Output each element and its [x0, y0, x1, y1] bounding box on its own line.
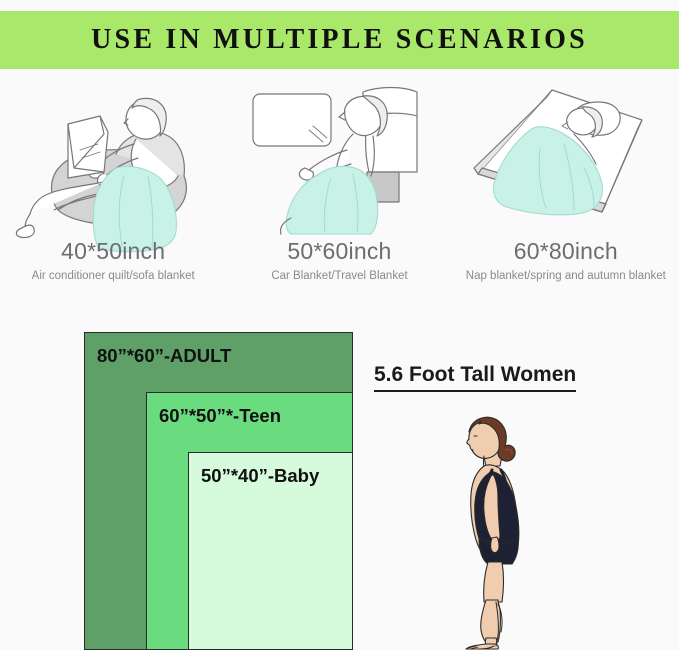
- scenario-description: Nap blanket/spring and autumn blanket: [466, 270, 666, 282]
- reference-figure-panel: 5.6 Foot Tall Women: [366, 300, 679, 650]
- person-reading-beanbag-icon: [0, 72, 226, 232]
- size-box-baby: 50”*40”-Baby: [188, 452, 353, 650]
- standing-woman-profile-icon: [406, 400, 586, 650]
- person-car-seat-icon: [226, 72, 452, 232]
- scenario-description: Car Blanket/Travel Blanket: [271, 270, 407, 282]
- scenario-item-car: 50*60inch Car Blanket/Travel Blanket: [226, 72, 452, 300]
- page-title: USE IN MULTIPLE SCENARIOS: [91, 24, 588, 56]
- scenario-description: Air conditioner quilt/sofa blanket: [32, 270, 195, 282]
- scenario-size-label: 50*60inch: [287, 238, 391, 265]
- scenario-item-bed: 60*80inch Nap blanket/spring and autumn …: [453, 72, 679, 300]
- scenario-row: 40*50inch Air conditioner quilt/sofa bla…: [0, 72, 679, 300]
- size-box-adult-label: 80”*60”-ADULT: [97, 345, 231, 367]
- infographic-page: USE IN MULTIPLE SCENARIOS: [0, 0, 679, 650]
- scenario-size-label: 60*80inch: [514, 238, 618, 265]
- header-banner: USE IN MULTIPLE SCENARIOS: [0, 11, 679, 69]
- scenario-size-label: 40*50inch: [61, 238, 165, 265]
- size-box-baby-label: 50”*40”-Baby: [201, 465, 319, 487]
- scenario-item-beanbag: 40*50inch Air conditioner quilt/sofa bla…: [0, 72, 226, 300]
- reference-heading: 5.6 Foot Tall Women: [374, 363, 576, 392]
- size-box-teen-label: 60”*50”*-Teen: [159, 405, 281, 427]
- person-sleeping-bed-icon: [453, 72, 679, 232]
